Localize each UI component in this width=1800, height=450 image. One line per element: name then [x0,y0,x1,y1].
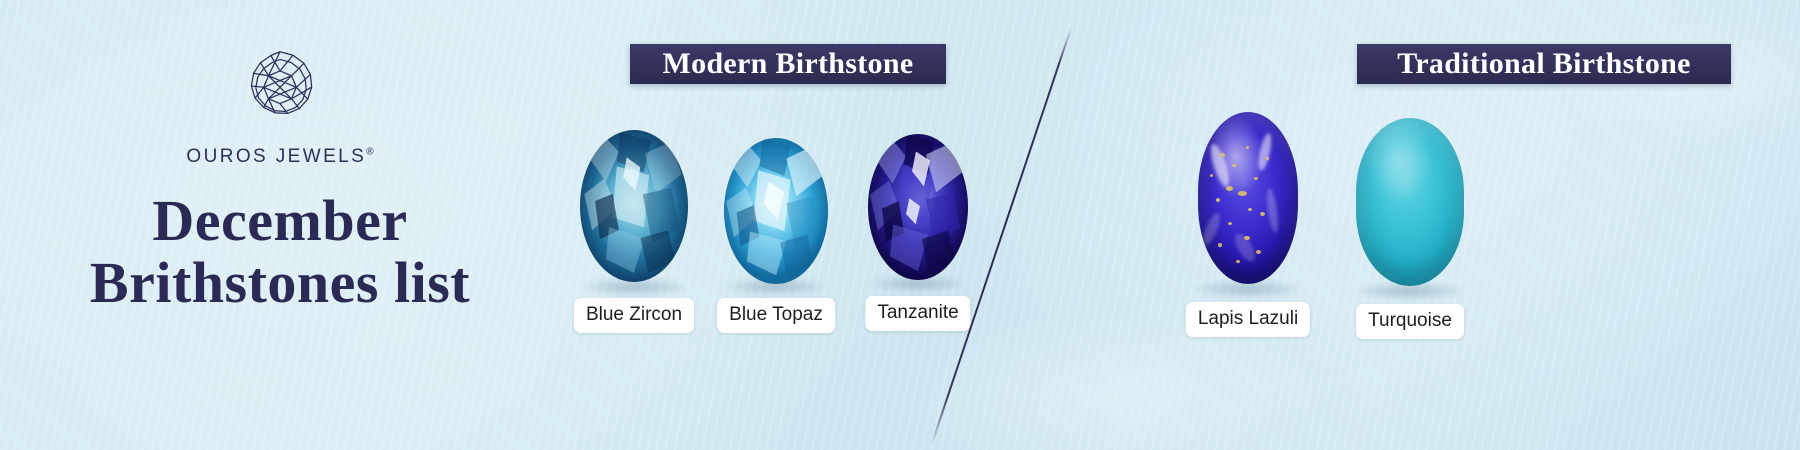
gem-cell-blue-topaz: Blue Topaz [716,138,836,284]
gem-label-blue-zircon: Blue Zircon [574,298,694,333]
gem-cell-blue-zircon: Blue Zircon [574,130,694,282]
page-title-line-2: Brithstones list [0,252,560,314]
oval-cabochon-gem-icon [1356,118,1464,286]
gem-facets [580,130,688,282]
diamond-outline-icon [0,46,560,142]
gem-label-lapis-lazuli: Lapis Lazuli [1186,302,1310,337]
december-birthstones-banner: OUROS JEWELS® December Brithstones list … [0,0,1800,450]
page-title: December Brithstones list [0,190,560,314]
oval-faceted-gem-icon [580,130,688,282]
gem-pyrite-flecks [1198,112,1298,284]
brand-wordmark: OUROS JEWELS® [186,146,373,168]
gem-cell-tanzanite: Tanzanite [860,134,976,280]
modern-birthstone-gem-group: Blue Zircon Blue Topaz [560,130,1020,350]
gem-label-blue-topaz: Blue Topaz [717,298,835,333]
section-title-modern-birthstone: Modern Birthstone [630,44,946,84]
registered-mark: ® [366,147,373,158]
gem-label-tanzanite: Tanzanite [865,296,970,331]
gem-cell-lapis-lazuli: Lapis Lazuli [1180,112,1316,284]
gem-label-turquoise: Turquoise [1356,304,1464,339]
oval-faceted-gem-icon [868,134,968,280]
oval-cabochon-gem-icon [1198,112,1298,284]
gem-facets [868,134,968,280]
page-title-line-1: December [0,190,560,252]
section-title-traditional-birthstone: Traditional Birthstone [1357,44,1731,84]
brand-wordmark-text: OUROS JEWELS [186,146,366,167]
traditional-birthstone-gem-group: Lapis Lazuli Turquoise [1180,112,1600,352]
brand-block: OUROS JEWELS® December Brithstones list [0,46,560,314]
gem-cell-turquoise: Turquoise [1342,118,1478,286]
oval-faceted-gem-icon [724,138,828,284]
gem-facets [724,138,828,284]
